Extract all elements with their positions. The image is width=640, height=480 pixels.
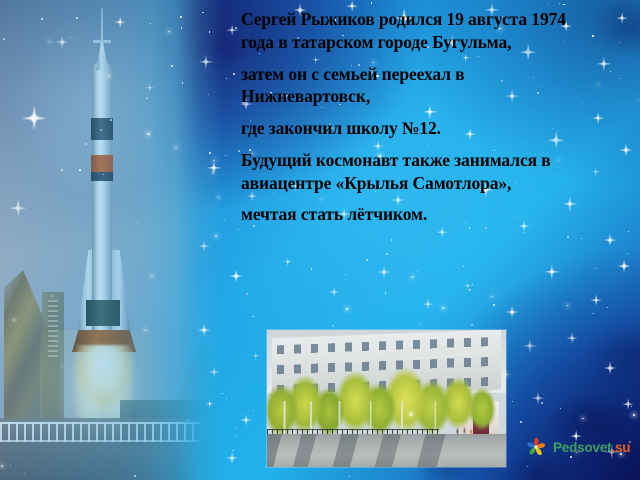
school-building-photo [267, 330, 506, 467]
pedsovet-name: Pedsovet [553, 440, 611, 455]
rocket-blue-overlay [0, 0, 224, 480]
pedsovet-wordmark: Pedsovet.su [553, 440, 630, 455]
pedsovet-pinwheel-logo [524, 435, 548, 459]
pedsovet-tld: .su [611, 440, 630, 455]
paragraph-2: затем он с семьей переехал в Нижневартов… [241, 63, 581, 109]
paragraph-3: где закончил школу №12. [241, 117, 581, 140]
slide-text-block: Сергей Рыжиков родился 19 августа 1974 г… [241, 8, 581, 226]
paragraph-1: Сергей Рыжиков родился 19 августа 1974 г… [241, 8, 581, 54]
soyuz-rocket-launch-photo [0, 0, 224, 480]
pedestrians [453, 423, 475, 437]
paragraph-4: Будущий космонавт также занимался в авиа… [241, 149, 581, 195]
paragraph-5: мечтая стать лётчиком. [241, 203, 581, 226]
presentation-slide: Сергей Рыжиков родился 19 августа 1974 г… [0, 0, 640, 480]
pavement-shadows [267, 434, 506, 467]
pedsovet-watermark[interactable]: Pedsovet.su [520, 430, 632, 464]
